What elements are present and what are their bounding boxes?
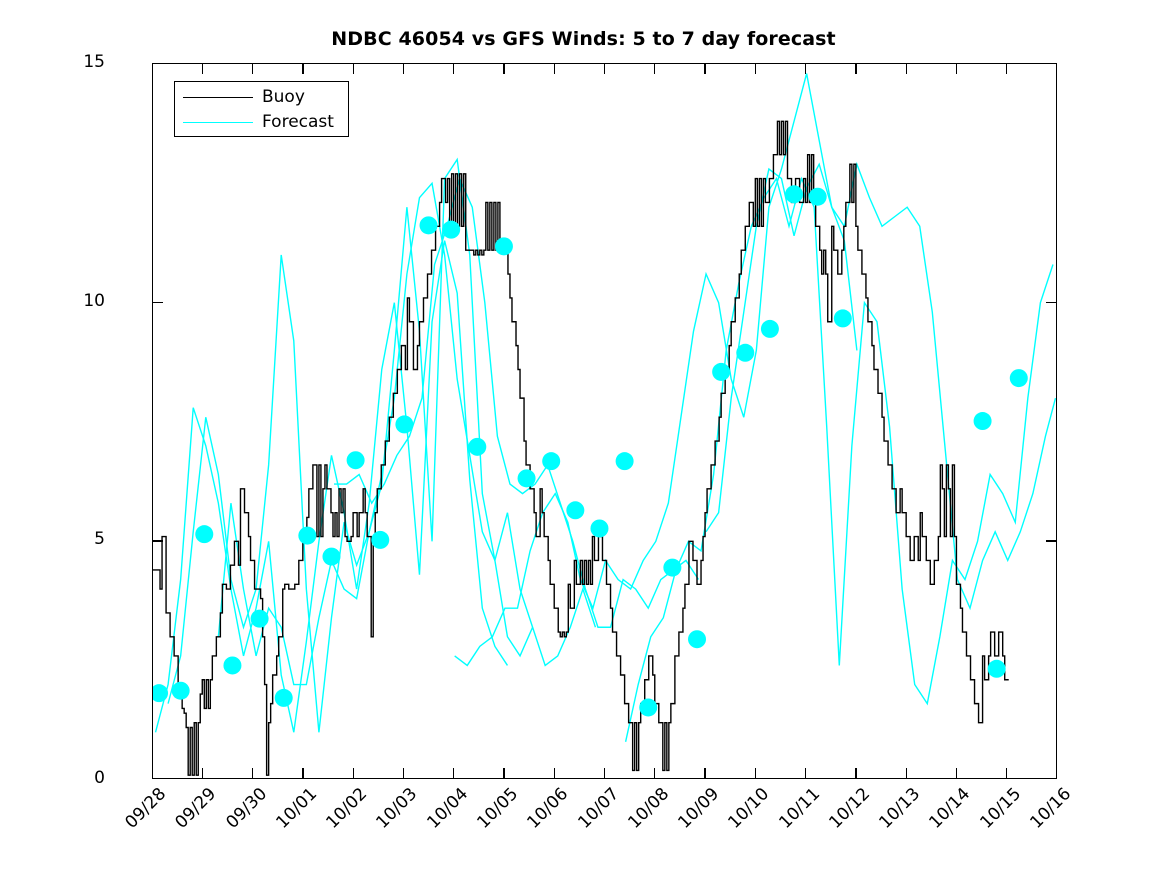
x-tick-mark [353,768,354,779]
x-tick-mark [403,63,404,74]
forecast-marker-point [1010,369,1028,387]
x-tick-mark [252,768,253,779]
x-tick-label: 10/09 [674,784,723,833]
x-tick-mark [855,63,856,74]
legend-item-buoy: Buoy [175,85,348,110]
forecast-marker-point [251,610,269,628]
x-tick-label: 09/30 [222,784,271,833]
legend-label-forecast: Forecast [262,114,334,131]
forecast-marker-point [195,525,213,543]
x-tick-label: 10/04 [423,784,472,833]
forecast-line-6 [706,164,1055,608]
x-tick-label: 10/10 [725,784,774,833]
x-tick-label: 10/13 [876,784,925,833]
forecast-marker-point [542,452,560,470]
figure-canvas: NDBC 46054 vs GFS Winds: 5 to 7 day fore… [0,0,1167,875]
plot-clip [153,64,1056,778]
x-tick-mark [956,63,957,74]
forecast-marker-point [736,344,754,362]
x-tick-label: 09/28 [121,784,170,833]
forecast-marker-point [298,527,316,545]
y-tick-mark [152,540,163,541]
x-tick-mark [503,63,504,74]
forecast-marker-point [395,415,413,433]
x-tick-mark [654,63,655,74]
forecast-marker-point [974,412,992,430]
forecast-marker-point [663,559,681,577]
x-tick-label: 10/08 [624,784,673,833]
forecast-marker-point [518,469,536,487]
y-tick-label: 0 [35,768,105,788]
x-tick-label: 10/02 [322,784,371,833]
forecast-marker-point [275,689,293,707]
x-tick-label: 10/15 [976,784,1025,833]
x-tick-mark [906,768,907,779]
x-tick-mark [604,768,605,779]
legend-swatch-buoy [183,97,253,98]
forecast-marker-point [809,188,827,206]
x-tick-label: 10/12 [825,784,874,833]
x-tick-mark [453,63,454,74]
x-tick-label: 09/29 [172,784,221,833]
forecast-marker-point [712,363,730,381]
x-tick-mark [1006,768,1007,779]
x-tick-mark [202,63,203,74]
forecast-marker-point [347,451,365,469]
x-tick-label: 10/16 [1026,784,1075,833]
forecast-marker-point [988,660,1006,678]
x-tick-mark [302,768,303,779]
y-tick-label: 10 [35,291,105,311]
forecast-marker-point [322,548,340,566]
y-tick-mark [1046,540,1057,541]
x-tick-mark [353,63,354,74]
x-tick-mark [453,768,454,779]
x-tick-mark [855,768,856,779]
x-tick-mark [503,768,504,779]
forecast-marker-point [761,320,779,338]
forecast-line-0 [156,241,508,733]
chart-legend: Buoy Forecast [174,81,349,137]
x-tick-mark [604,63,605,74]
x-tick-mark [202,768,203,779]
x-tick-mark [554,768,555,779]
x-tick-mark [654,768,655,779]
x-tick-label: 10/05 [473,784,522,833]
x-tick-mark [554,63,555,74]
x-tick-mark [252,63,253,74]
legend-item-forecast: Forecast [175,110,348,135]
x-tick-mark [302,63,303,74]
x-tick-label: 10/06 [524,784,573,833]
x-tick-mark [956,768,957,779]
x-tick-mark [755,768,756,779]
x-tick-label: 10/01 [272,784,321,833]
x-tick-label: 10/03 [373,784,422,833]
y-tick-label: 15 [35,52,105,72]
page-title: NDBC 46054 vs GFS Winds: 5 to 7 day fore… [0,28,1167,50]
x-tick-label: 10/07 [574,784,623,833]
legend-swatch-forecast [183,122,253,123]
chart-svg [153,64,1056,778]
forecast-marker-point [616,452,634,470]
x-tick-mark [755,63,756,74]
forecast-marker-point [785,185,803,203]
y-tick-mark [1046,302,1057,303]
x-tick-mark [805,63,806,74]
x-tick-mark [805,768,806,779]
forecast-marker-point [495,237,513,255]
y-tick-mark [152,302,163,303]
plot-area [152,63,1057,779]
forecast-marker-point [153,684,168,702]
x-tick-mark [704,768,705,779]
forecast-marker-point [688,630,706,648]
x-tick-label: 10/14 [926,784,975,833]
x-tick-mark [1006,63,1007,74]
y-tick-label: 5 [35,529,105,549]
forecast-marker-point [371,531,389,549]
forecast-marker-point [172,682,190,700]
x-tick-mark [704,63,705,74]
x-tick-mark [403,768,404,779]
forecast-marker-point [566,501,584,519]
forecast-marker-point [639,698,657,716]
x-tick-mark [906,63,907,74]
x-tick-label: 10/11 [775,784,824,833]
forecast-marker-point [223,656,241,674]
legend-label-buoy: Buoy [262,89,305,106]
forecast-marker-point [420,216,438,234]
forecast-marker-point [468,438,486,456]
forecast-marker-point [590,519,608,537]
forecast-marker-point [834,309,852,327]
forecast-marker-point [442,221,460,239]
forecast-line-4 [455,74,857,666]
